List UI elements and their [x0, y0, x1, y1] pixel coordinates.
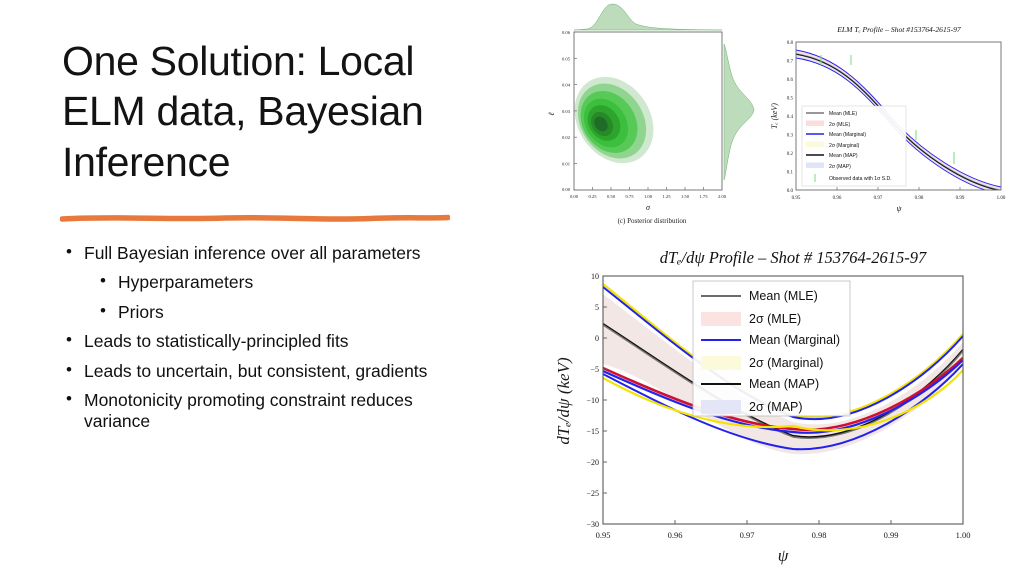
- legend-label: Mean (MLE): [749, 289, 818, 303]
- svg-text:1.00: 1.00: [956, 530, 971, 540]
- slide-left-column: One Solution: Local ELM data, Bayesian I…: [0, 0, 510, 573]
- svg-text:0.2: 0.2: [787, 152, 794, 157]
- svg-text:0.97: 0.97: [874, 196, 883, 201]
- legend-label: Observed data with 1σ S.D.: [829, 176, 892, 182]
- legend-label: 2σ (Marginal): [749, 356, 823, 370]
- y-axis-label: ℓ: [547, 112, 556, 116]
- figure-elm-te-profile: ELM Tₑ Profile – Shot #153764-2615-97: [766, 22, 1018, 217]
- legend-label: Mean (Marginal): [829, 132, 866, 138]
- list-item: Hyperparameters: [62, 272, 462, 292]
- svg-text:0.99: 0.99: [884, 530, 899, 540]
- svg-text:0.00: 0.00: [570, 194, 579, 199]
- svg-text:0.7: 0.7: [787, 60, 794, 65]
- svg-text:0.05: 0.05: [562, 56, 571, 61]
- svg-text:1.00: 1.00: [644, 194, 653, 199]
- svg-text:0.50: 0.50: [607, 194, 616, 199]
- svg-text:0.98: 0.98: [915, 196, 924, 201]
- list-item: Leads to uncertain, but consistent, grad…: [62, 361, 462, 381]
- svg-text:−15: −15: [586, 427, 599, 436]
- svg-text:0.6: 0.6: [787, 78, 794, 83]
- legend-label: 2σ (MAP): [749, 400, 803, 414]
- svg-text:0.0: 0.0: [787, 189, 794, 194]
- svg-text:1.25: 1.25: [662, 194, 671, 199]
- posterior-plot: 0.06 0.05 0.04 0.03 0.02 0.01 0.00 0.000…: [532, 2, 772, 217]
- figure-dte-dpsi-profile: dTₑ/dψ Profile – Shot # 153764-2615-97: [545, 246, 1020, 571]
- legend-label: 2σ (MLE): [749, 312, 801, 326]
- y-axis-label: dTₑ/dψ (keV): [554, 357, 573, 445]
- legend-label: 2σ (Marginal): [829, 143, 860, 149]
- svg-text:0.3: 0.3: [787, 134, 794, 139]
- svg-text:0.00: 0.00: [562, 187, 571, 192]
- x-axis-ticks: 0.950.96 0.970.98 0.991.00: [792, 196, 1006, 201]
- svg-text:1.00: 1.00: [997, 196, 1006, 201]
- svg-text:0.8: 0.8: [787, 41, 794, 46]
- legend-label: 2σ (MLE): [829, 122, 851, 128]
- legend-label: 2σ (MAP): [829, 164, 851, 170]
- dte-dpsi-plot: dTₑ/dψ Profile – Shot # 153764-2615-97: [545, 246, 1020, 571]
- y-axis-label: Tₑ (keV): [770, 103, 779, 129]
- list-item: Leads to statistically-principled fits: [62, 331, 462, 351]
- chart-legend: Mean (MLE) 2σ (MLE) Mean (Marginal) 2σ (…: [693, 281, 850, 416]
- list-item: Monotonicity promoting constraint reduce…: [62, 390, 462, 431]
- svg-text:0.96: 0.96: [833, 196, 842, 201]
- legend-label: Mean (Marginal): [749, 333, 840, 347]
- svg-text:0.98: 0.98: [812, 530, 827, 540]
- svg-text:−10: −10: [586, 396, 599, 405]
- svg-text:0.04: 0.04: [562, 83, 571, 88]
- bullet-list: Full Bayesian inference over all paramet…: [62, 243, 462, 440]
- svg-text:0.03: 0.03: [562, 109, 571, 114]
- svg-text:0.95: 0.95: [596, 530, 611, 540]
- svg-text:0.02: 0.02: [562, 135, 571, 140]
- svg-text:1.75: 1.75: [699, 194, 708, 199]
- svg-text:−20: −20: [586, 458, 599, 467]
- chart-title: ELM Tₑ Profile – Shot #153764-2615-97: [836, 25, 962, 34]
- svg-text:0.95: 0.95: [792, 196, 801, 201]
- svg-text:0.01: 0.01: [562, 162, 571, 167]
- svg-text:0.96: 0.96: [668, 530, 683, 540]
- svg-text:0.99: 0.99: [956, 196, 965, 201]
- legend-label: Mean (MAP): [749, 377, 819, 391]
- svg-text:−30: −30: [586, 520, 599, 529]
- svg-text:10: 10: [591, 272, 599, 281]
- svg-text:−5: −5: [590, 365, 599, 374]
- y-axis-ticks: 0.80.7 0.60.5 0.40.3 0.20.1 0.0: [787, 41, 794, 194]
- marginal-sigma-kde: [574, 4, 722, 30]
- figure-caption: (c) Posterior distribution: [532, 217, 772, 225]
- x-axis-label: σ: [646, 203, 651, 212]
- elm-te-plot: ELM Tₑ Profile – Shot #153764-2615-97: [766, 22, 1018, 217]
- accent-underline: [60, 210, 450, 226]
- svg-text:0.4: 0.4: [787, 115, 794, 120]
- page-title: One Solution: Local ELM data, Bayesian I…: [62, 36, 462, 187]
- svg-text:−25: −25: [586, 489, 599, 498]
- svg-text:1.50: 1.50: [681, 194, 690, 199]
- svg-text:0.25: 0.25: [588, 194, 597, 199]
- figure-posterior-distribution: 0.06 0.05 0.04 0.03 0.02 0.01 0.00 0.000…: [532, 2, 772, 237]
- svg-text:0.5: 0.5: [787, 97, 794, 102]
- x-axis-label: ψ: [897, 204, 903, 213]
- y-axis-ticks: 105 0−5 −10−15 −20−25 −30: [586, 272, 599, 529]
- x-axis-ticks: 0.000.25 0.500.75 1.001.25 1.501.75 2.00: [570, 194, 727, 199]
- x-axis-ticks: 0.950.96 0.970.98 0.991.00: [596, 530, 971, 540]
- legend-label: Mean (MLE): [829, 111, 857, 117]
- svg-text:0.1: 0.1: [787, 171, 794, 176]
- slide: One Solution: Local ELM data, Bayesian I…: [0, 0, 1024, 573]
- svg-text:0: 0: [595, 334, 599, 343]
- list-item: Full Bayesian inference over all paramet…: [62, 243, 462, 263]
- density-contours: [558, 62, 669, 179]
- svg-text:0.75: 0.75: [625, 194, 634, 199]
- marginal-ell-kde: [724, 44, 754, 180]
- x-axis-label: ψ: [778, 546, 789, 565]
- svg-text:0.06: 0.06: [562, 30, 571, 35]
- legend-label: Mean (MAP): [829, 153, 858, 159]
- svg-text:0.97: 0.97: [740, 530, 755, 540]
- y-axis-ticks: 0.06 0.05 0.04 0.03 0.02 0.01 0.00: [562, 30, 571, 192]
- svg-text:2.00: 2.00: [718, 194, 727, 199]
- svg-text:5: 5: [595, 303, 599, 312]
- chart-legend: Mean (MLE) 2σ (MLE) Mean (Marginal) 2σ (…: [802, 106, 906, 186]
- chart-title: dTₑ/dψ Profile – Shot # 153764-2615-97: [660, 248, 927, 267]
- list-item: Priors: [62, 302, 462, 322]
